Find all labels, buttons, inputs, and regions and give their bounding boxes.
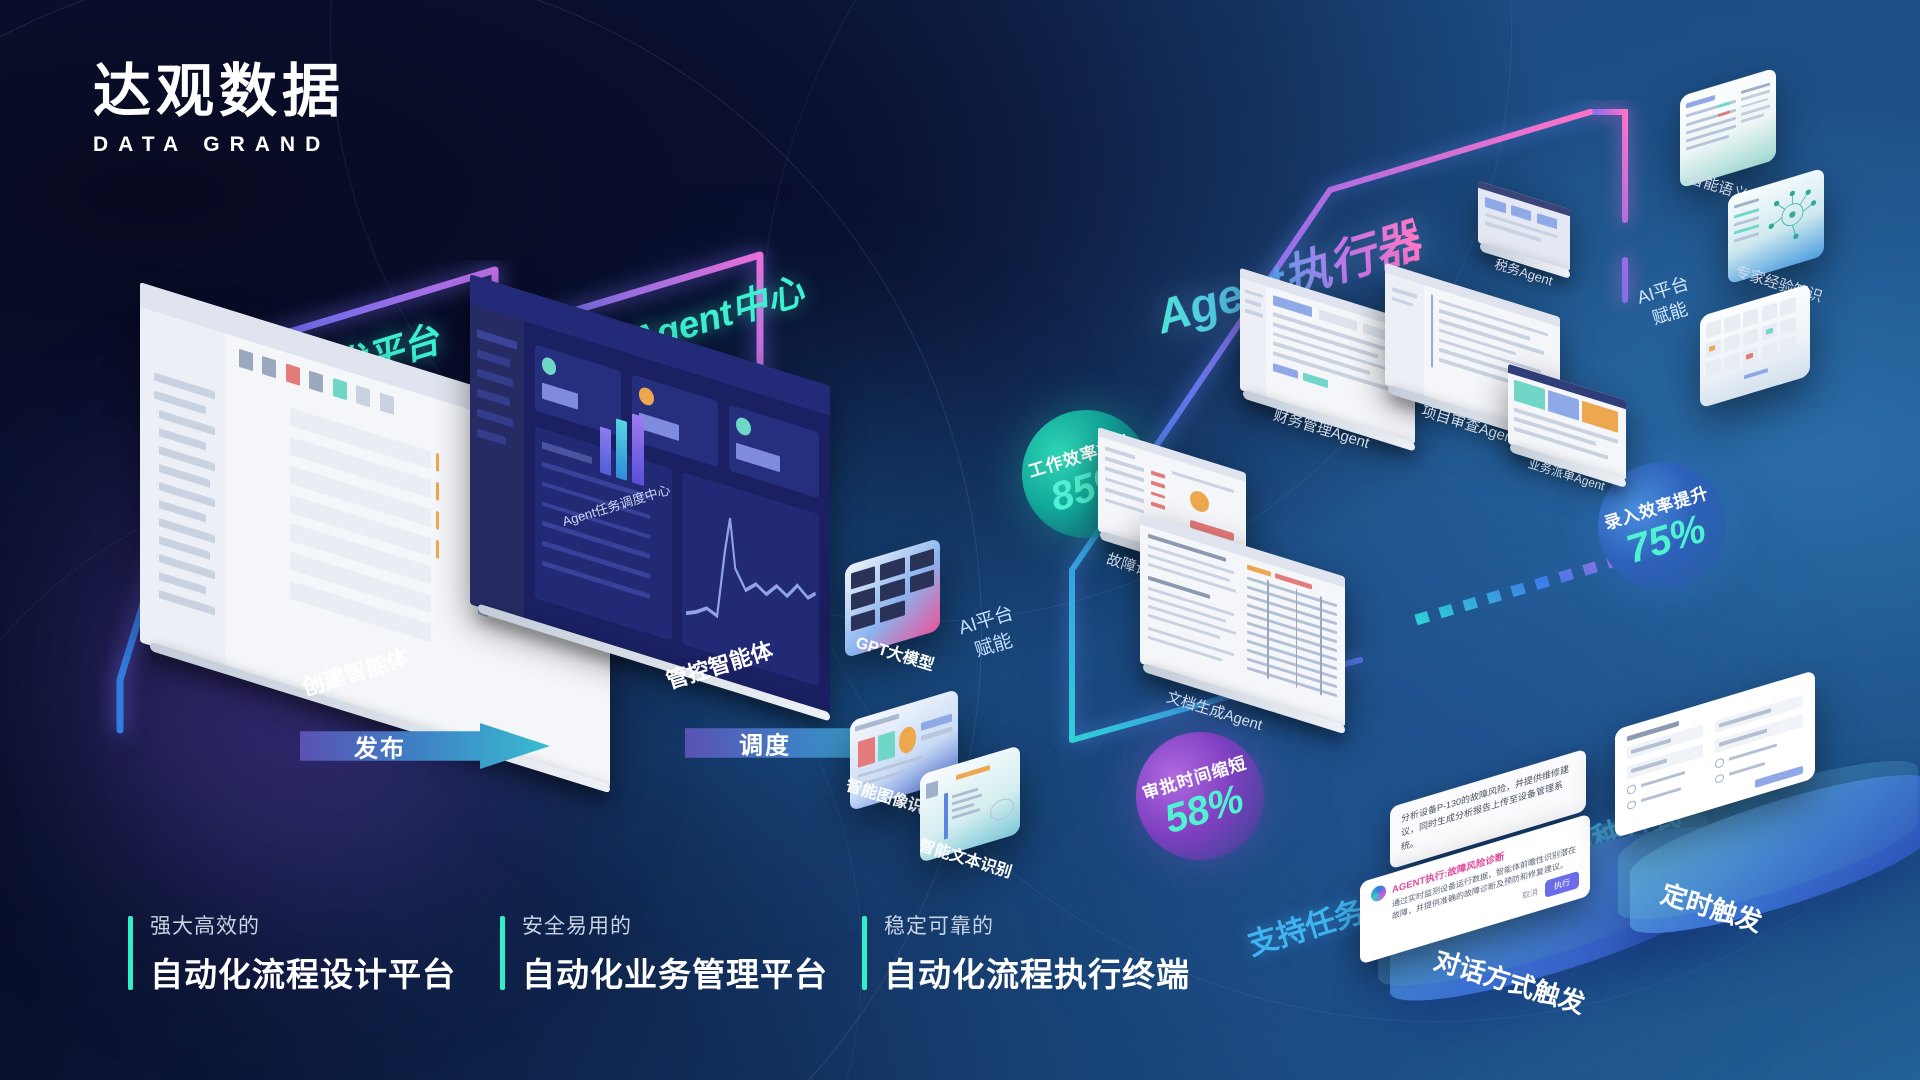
ai-enable-label-left: AI平台 赋能: [956, 601, 1025, 666]
arrow-schedule-label: 调度: [739, 726, 791, 761]
infographic-canvas: 达观数据 DATA GRAND: [0, 0, 1920, 1080]
bottom-caption-execution-terminal: 稳定可靠的 自动化流程执行终端: [862, 910, 1190, 996]
brand-logo: 达观数据 DATA GRAND: [93, 62, 345, 157]
brand-name-zh: 达观数据: [93, 62, 345, 123]
bottom-captions: 强大高效的 自动化流程设计平台 安全易用的 自动化业务管理平台 稳定可靠的 自动…: [0, 910, 1920, 1020]
stat-bubble-approval: 审批时间缩短 58%: [1120, 716, 1280, 876]
ai-enable-label-right: AI平台 赋能: [1634, 271, 1699, 333]
brand-name-en: DATA GRAND: [93, 133, 345, 157]
agent-avatar-icon: [1371, 884, 1386, 904]
bottom-caption-main: 自动化流程设计平台: [150, 948, 456, 996]
bottom-caption-sub: 安全易用的: [522, 910, 828, 940]
ai-card-component-gallery: [1700, 284, 1810, 409]
bottom-caption-business-platform: 安全易用的 自动化业务管理平台: [500, 910, 828, 996]
arrow-publish: 发布: [300, 715, 550, 777]
chat-cancel-button[interactable]: 取消: [1522, 886, 1538, 902]
bottom-caption-main: 自动化业务管理平台: [522, 948, 828, 996]
bottom-caption-sub: 稳定可靠的: [884, 910, 1190, 940]
bottom-caption-design-platform: 强大高效的 自动化流程设计平台: [128, 910, 456, 996]
bottom-caption-main: 自动化流程执行终端: [884, 948, 1190, 996]
bottom-caption-sub: 强大高效的: [150, 910, 456, 940]
arrow-publish-label: 发布: [354, 729, 406, 764]
